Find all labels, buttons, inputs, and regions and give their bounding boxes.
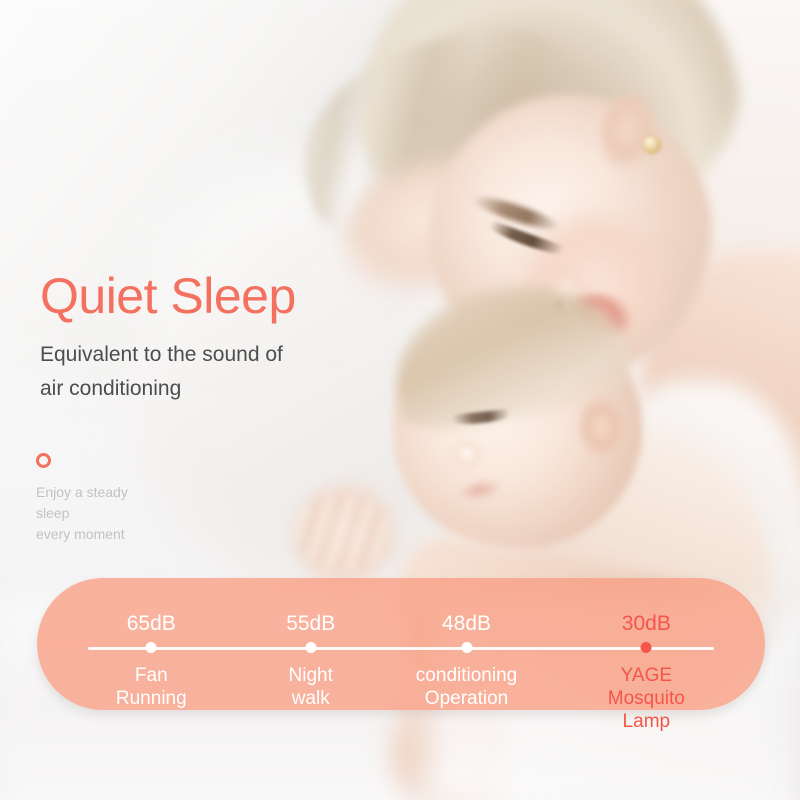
noise-stop-dot xyxy=(305,642,316,653)
page-subtitle: Equivalent to the sound of air condition… xyxy=(40,338,283,406)
noise-stop-db-value: 55dB xyxy=(286,612,335,636)
noise-scale-track xyxy=(88,647,714,650)
noise-stop-label: YAGE Mosquito Lamp xyxy=(608,664,685,733)
page-title: Quiet Sleep xyxy=(40,268,296,324)
noise-stop-label: Fan Running xyxy=(116,664,187,710)
noise-stop-db-value: 48dB xyxy=(442,612,491,636)
promo-banner-page: Quiet Sleep Equivalent to the sound of a… xyxy=(0,0,800,800)
noise-stop-db-value: 65dB xyxy=(127,612,176,636)
noise-stop-label: conditioning Operation xyxy=(416,664,517,710)
noise-stop-db-value: 30dB xyxy=(622,612,671,636)
baby-nose xyxy=(452,440,488,474)
ring-icon xyxy=(36,453,51,468)
noise-stop-dot xyxy=(641,642,652,653)
tagline-text: Enjoy a steady sleep every moment xyxy=(36,482,128,545)
earring xyxy=(643,136,661,154)
noise-stop-dot xyxy=(461,642,472,653)
noise-stop-dot xyxy=(146,642,157,653)
noise-stop-label: Night walk xyxy=(289,664,333,710)
baby-fingers xyxy=(295,495,390,570)
